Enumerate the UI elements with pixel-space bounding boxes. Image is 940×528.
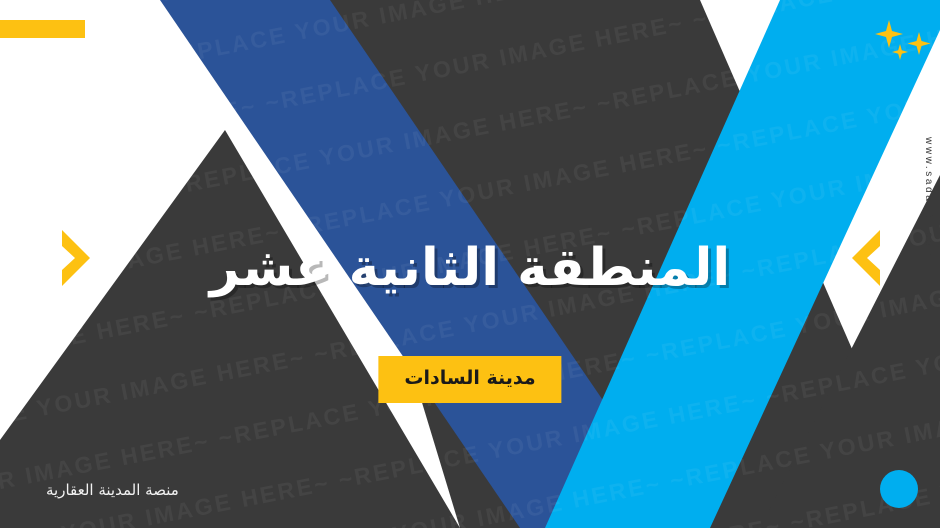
city-badge: مدينة السادات [378,356,561,403]
footer-brand-label: منصة المدينة العقارية [46,481,179,499]
sparkle-icon [872,18,934,70]
yellow-bar-decoration [0,20,85,38]
circle-decoration [880,470,918,508]
banner-root: ~REPLACE YOUR IMAGE HERE~ ~REPLACE YOUR … [0,0,940,528]
page-title: المنطقة الثانية عشر [0,239,940,299]
